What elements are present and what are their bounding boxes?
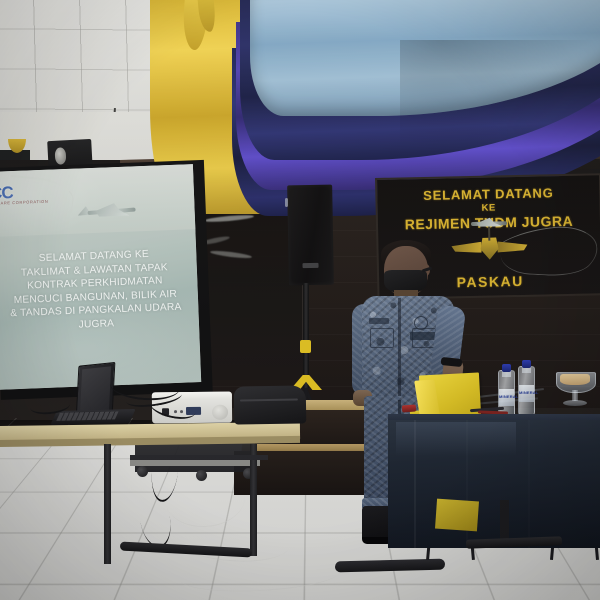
equipment-bag: [234, 385, 307, 424]
table-leg: [104, 444, 111, 564]
slide-background: RCC ROYAL CARE CORPORATION SELAMAT DATAN…: [0, 164, 201, 390]
emblem-wing-right: [497, 241, 527, 253]
laptop-keyboard[interactable]: [56, 411, 118, 421]
glass-snack-bowl[interactable]: [556, 372, 594, 408]
red-marker[interactable]: [402, 405, 416, 413]
bottle-label: MINERAL: [499, 389, 514, 406]
laptop-base: [50, 409, 135, 425]
documents-under-table: [435, 499, 479, 532]
pen-group[interactable]: [470, 406, 522, 414]
briefing-room-photo: RCC ROYAL CARE CORPORATION SELAMAT DATAN…: [0, 0, 600, 600]
speaker-highlight: [285, 198, 288, 207]
cloth-highlight: [396, 422, 516, 456]
trolley-shelf: [130, 460, 260, 466]
bag-zipper: [240, 399, 298, 402]
bowl-foot: [563, 400, 587, 406]
screen-glare: [0, 167, 111, 242]
table-crossbar: [130, 455, 268, 460]
unit-badge: [410, 332, 436, 340]
bottle-label-text: MINERAL: [519, 390, 534, 395]
uniform-placket: [398, 298, 401, 398]
glass-glint: [210, 249, 252, 259]
glass-glint: [204, 214, 254, 223]
model-aircraft-icon: [463, 217, 515, 230]
emblem-center-shield: [480, 237, 498, 259]
stand-knob-upper[interactable]: [300, 340, 311, 353]
name-tape: [369, 318, 389, 324]
uniform-pocket-left: [370, 328, 394, 348]
speaker-cone: [55, 147, 67, 165]
trolley-caster: [137, 466, 148, 477]
bottle-cap: [522, 360, 531, 368]
cloth-fold: [528, 420, 530, 548]
laptop[interactable]: [62, 364, 124, 426]
projection-screen[interactable]: RCC ROYAL CARE CORPORATION SELAMAT DATAN…: [0, 164, 201, 390]
projector-vent: [212, 405, 228, 420]
laptop-screen: [80, 366, 111, 415]
speaker-stand-pole: [303, 283, 309, 388]
unit-roundel-icon: [414, 316, 428, 330]
bottle-cap: [502, 364, 511, 372]
bottle-label-text: MINERAL: [499, 394, 514, 399]
bottle-label: MINERAL: [519, 385, 534, 402]
speaker-badge: [302, 263, 318, 268]
pa-speaker: [287, 185, 334, 286]
